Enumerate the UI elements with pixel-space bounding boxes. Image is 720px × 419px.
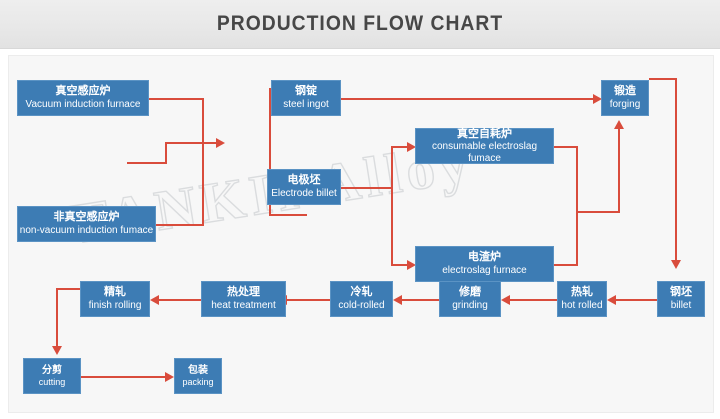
arrow-heat-treatment-to-finish-rolling [150,295,159,305]
node-cold-rolled[interactable]: 冷轧 cold-rolled [330,281,393,317]
node-label-en: steel ingot [283,99,329,111]
node-label-cn: 精轧 [104,286,126,299]
node-label-cn: 钢锭 [295,85,317,98]
connector-finish-rolling-down [56,288,58,350]
connector-forging-down [675,78,677,264]
node-label-en: hot rolled [561,300,602,312]
connector-cutting-to-packing [81,376,166,378]
arrow-cutting-to-packing [165,372,174,382]
node-vacuum-induction-furnace[interactable]: 真空感应炉 Vacuum induction furnace [17,80,149,116]
connector-finish-rolling-left [56,288,80,290]
node-label-cn: 电极坯 [288,174,321,187]
connector-heat-treatment-to-finish-rolling [158,299,201,301]
node-steel-ingot[interactable]: 钢锭 steel ingot [271,80,341,116]
connector-electroslag-furnace-out [554,264,578,266]
node-packing[interactable]: 包装 packing [174,358,222,394]
page-title: PRODUCTION FLOW CHART [29,0,691,48]
node-non-vacuum-induction-furnace[interactable]: 非真空感应炉 non-vacuum induction fumace [17,206,156,242]
node-label-cn: 分剪 [42,365,62,377]
arrow-finish-rolling-to-cutting [52,346,62,355]
node-label-cn: 钢坯 [670,286,692,299]
arrow-merge-to-trunk [216,138,225,148]
node-label-cn: 非真空感应炉 [54,211,120,224]
node-grinding[interactable]: 修磨 grinding [439,281,501,317]
flow-chart-canvas: TANKII Alloy [8,55,714,413]
node-label-cn: 锻造 [614,85,636,98]
connector-consumable-furnace-out [554,146,578,148]
arrow-merge-to-forging [614,120,624,129]
node-consumable-electroslag-furnace[interactable]: 真空自耗炉 consumable electroslag fumace [415,128,554,164]
connector-vif-right [148,98,204,100]
connector-merge-to-forging-h [576,211,620,213]
connector-billet-to-hot-rolled [615,299,657,301]
connector-merge-to-forging-v [618,128,620,213]
node-label-en: Vacuum induction furnace [26,99,141,111]
node-label-en: forging [610,99,641,111]
node-label-en: electroslag furnace [442,265,527,277]
page-header: PRODUCTION FLOW CHART [0,0,720,49]
node-electroslag-furnace[interactable]: 电渣炉 electroslag furnace [415,246,554,282]
node-label-en: Electrode billet [271,188,337,200]
connector-furnaces-merge-v [576,146,578,266]
connector-steel-ingot-to-forging [341,98,594,100]
arrow-forging-to-billet [671,260,681,269]
connector-electrode-split-v [391,146,393,266]
node-label-en: consumable electroslag fumace [416,141,553,164]
arrow-grinding-to-cold-rolled [393,295,402,305]
node-label-cn: 真空自耗炉 [457,128,512,141]
node-label-cn: 修磨 [459,286,481,299]
node-hot-rolled[interactable]: 热轧 hot rolled [557,281,607,317]
connector-vif-down [202,98,204,226]
connector-merge-step-low [127,162,167,164]
node-label-cn: 真空感应炉 [56,85,111,98]
node-label-en: non-vacuum induction fumace [20,225,153,237]
connector-nvif-right [148,224,204,226]
node-forging[interactable]: 锻造 forging [601,80,649,116]
arrow-hot-rolled-to-grinding [501,295,510,305]
node-label-en: cutting [39,377,66,387]
node-finish-rolling[interactable]: 精轧 finish rolling [80,281,150,317]
connector-electrode-billet-right [341,187,393,189]
connector-hot-rolled-to-grinding [509,299,557,301]
connector-trunk-to-electrode-billet [269,214,307,216]
production-flow-chart-page: PRODUCTION FLOW CHART TANKII Alloy [0,0,720,419]
node-label-cn: 冷轧 [351,286,373,299]
node-label-cn: 热处理 [227,286,260,299]
connector-forging-right [649,78,677,80]
node-label-cn: 包装 [188,365,208,377]
node-electrode-billet[interactable]: 电极坯 Electrode billet [267,169,341,205]
connector-cold-rolled-to-heat-treatment [286,299,330,301]
node-label-en: cold-rolled [338,300,384,312]
connector-merge-step-v [165,142,167,164]
node-label-cn: 热轧 [571,286,593,299]
node-billet[interactable]: 钢坯 billet [657,281,705,317]
node-cutting[interactable]: 分剪 cutting [23,358,81,394]
connector-merge-step-high [165,142,217,144]
node-label-cn: 电渣炉 [468,251,501,264]
connector-grinding-to-cold-rolled [401,299,439,301]
node-label-en: finish rolling [89,300,142,312]
node-heat-treatment[interactable]: 热处理 heat treatment [201,281,286,317]
node-label-en: packing [182,377,213,387]
node-label-en: billet [671,300,692,312]
arrow-billet-to-hot-rolled [607,295,616,305]
node-label-en: heat treatment [211,300,275,312]
node-label-en: grinding [452,300,488,312]
